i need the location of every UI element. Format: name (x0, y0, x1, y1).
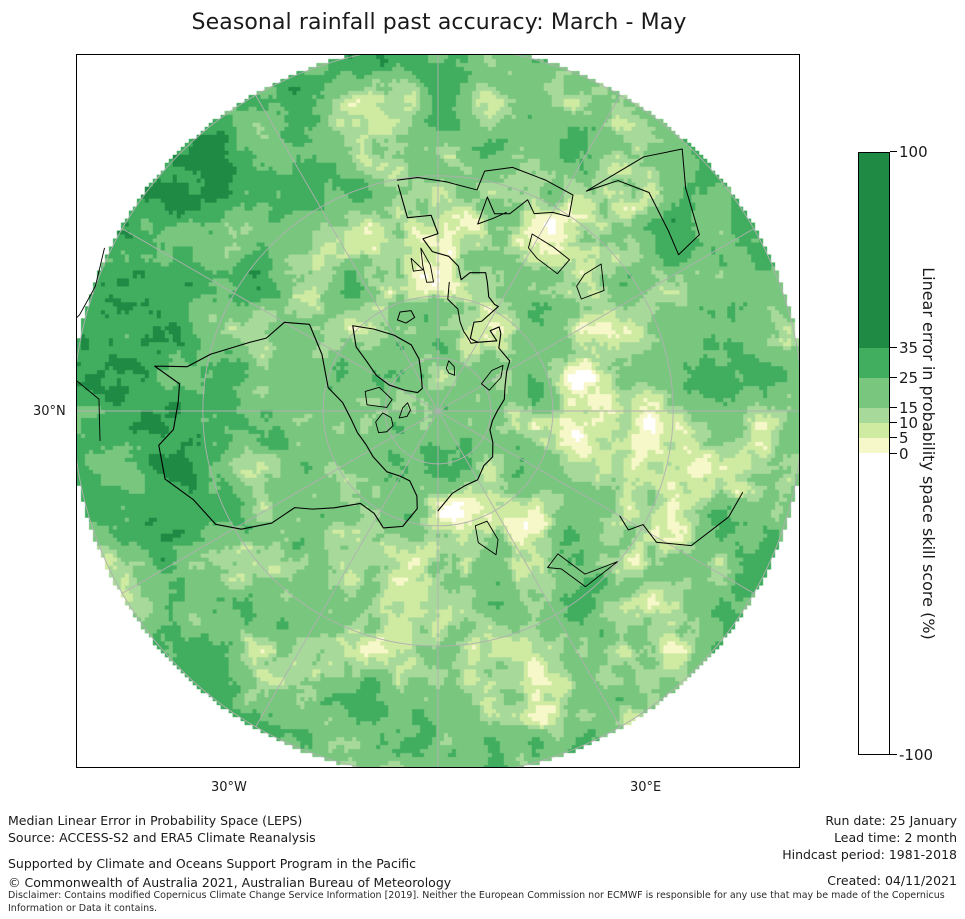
coastline-baffin-island (365, 387, 392, 407)
tick-mark (890, 347, 897, 348)
colorbar-band-15-25 (859, 378, 889, 408)
coastline-eurasia-north (398, 185, 509, 511)
footer-copyright: © Commonwealth of Australia 2021, Austra… (8, 874, 451, 891)
footer-lead-time: Lead time: 2 month (782, 829, 957, 846)
coastline-ellesmere-island (399, 403, 410, 418)
coastline-iceland (397, 311, 414, 323)
page-title: Seasonal rainfall past accuracy: March -… (0, 8, 878, 38)
colorbar-band-35-100 (859, 153, 889, 348)
tick-mark (890, 407, 897, 408)
colorbar-band--100-0 (859, 453, 889, 754)
lat-tick-30n: 30°N (33, 404, 66, 419)
coastline-kamchatka (475, 521, 498, 555)
coastline-arabia (586, 149, 699, 255)
colorbar-band-0-5 (859, 438, 889, 453)
coastline-ireland (411, 258, 423, 271)
coastline-norway (448, 282, 478, 343)
footer-run-date: Run date: 25 January (782, 812, 957, 829)
tick-mark (890, 377, 897, 378)
coastline-greenland (353, 326, 423, 393)
colorbar-band-5-10 (859, 423, 889, 438)
coastline-great-britain (421, 248, 434, 282)
tick-mark (890, 422, 897, 423)
footer-created: Created: 04/11/2021 (827, 872, 957, 889)
footer-disclaimer: Disclaimer: Contains modified Copernicus… (8, 890, 960, 915)
coastline-central-america (77, 248, 104, 440)
figure-root: Seasonal rainfall past accuracy: March -… (0, 0, 965, 919)
coastline-black-sea (528, 234, 569, 274)
footer-source: Source: ACCESS-S2 and ERA5 Climate Reana… (8, 829, 316, 846)
colorbar-band-10-15 (859, 408, 889, 423)
footer-metric-block: Median Linear Error in Probability Space… (8, 812, 316, 846)
coastline-north-america (155, 322, 418, 529)
footer-support: Supported by Climate and Oceans Support … (8, 855, 416, 872)
colorbar-axis-label: Linear error in probability space skill … (912, 152, 944, 755)
coastline-japan (548, 554, 618, 587)
map-overlay-coastlines-graticule (77, 55, 799, 767)
lon-tick-30e: 30°E (630, 780, 661, 795)
coastline-novaya-zemlya (481, 365, 503, 390)
coastline-victoria-island (376, 413, 393, 433)
lon-tick-30w: 30°W (211, 780, 247, 795)
tick-mark (890, 151, 897, 152)
colorbar-band-25-35 (859, 348, 889, 378)
coastline-china-east (620, 493, 743, 546)
tick-mark (890, 437, 897, 438)
colorbar[interactable] (858, 152, 890, 755)
map-axes[interactable] (76, 54, 800, 768)
footer-metric: Median Linear Error in Probability Space… (8, 812, 316, 829)
coastline-svalbard (446, 361, 454, 375)
tick-mark (890, 754, 897, 755)
coastline-caspian-sea (577, 264, 604, 299)
tick-mark (890, 453, 897, 454)
footer-run-metadata: Run date: 25 January Lead time: 2 month … (782, 812, 957, 863)
footer-hindcast-period: Hindcast period: 1981-2018 (782, 846, 957, 863)
